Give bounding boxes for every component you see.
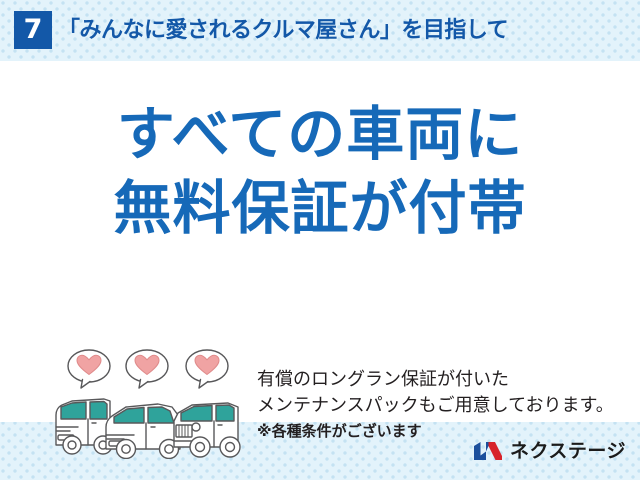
content-card: すべての車両に 無料保証が付帯 <box>0 61 640 422</box>
heart-bubble-right <box>186 350 228 388</box>
headline: すべての車両に 無料保証が付帯 <box>0 97 640 245</box>
banner-footer: ネクステージ <box>0 422 640 480</box>
headline-line-2: 無料保証が付帯 <box>0 171 640 245</box>
brand-logo: ネクステージ <box>473 438 626 464</box>
heart-bubble-left <box>68 350 110 388</box>
promo-banner: 7 「みんなに愛されるクルマ屋さん」を目指して すべての車両に 無料保証が付帯 <box>0 0 640 480</box>
description-line-1: 有償のロングラン保証が付いた <box>257 367 637 393</box>
brand-name: ネクステージ <box>510 440 626 462</box>
card-lower-section: 有償のロングラン保証が付いた メンテナンスパックもご用意しております。 ※各種条… <box>0 289 640 422</box>
description-line-2: メンテナンスパックもご用意しております。 <box>257 393 637 419</box>
banner-header: 7 「みんなに愛されるクルマ屋さん」を目指して <box>0 0 640 61</box>
nextage-n-mark-icon <box>473 440 503 462</box>
section-number-badge: 7 <box>14 11 52 49</box>
header-title: 「みんなに愛されるクルマ屋さん」を目指して <box>58 14 508 47</box>
headline-line-1: すべての車両に <box>0 97 640 171</box>
heart-bubble-middle <box>126 350 168 388</box>
